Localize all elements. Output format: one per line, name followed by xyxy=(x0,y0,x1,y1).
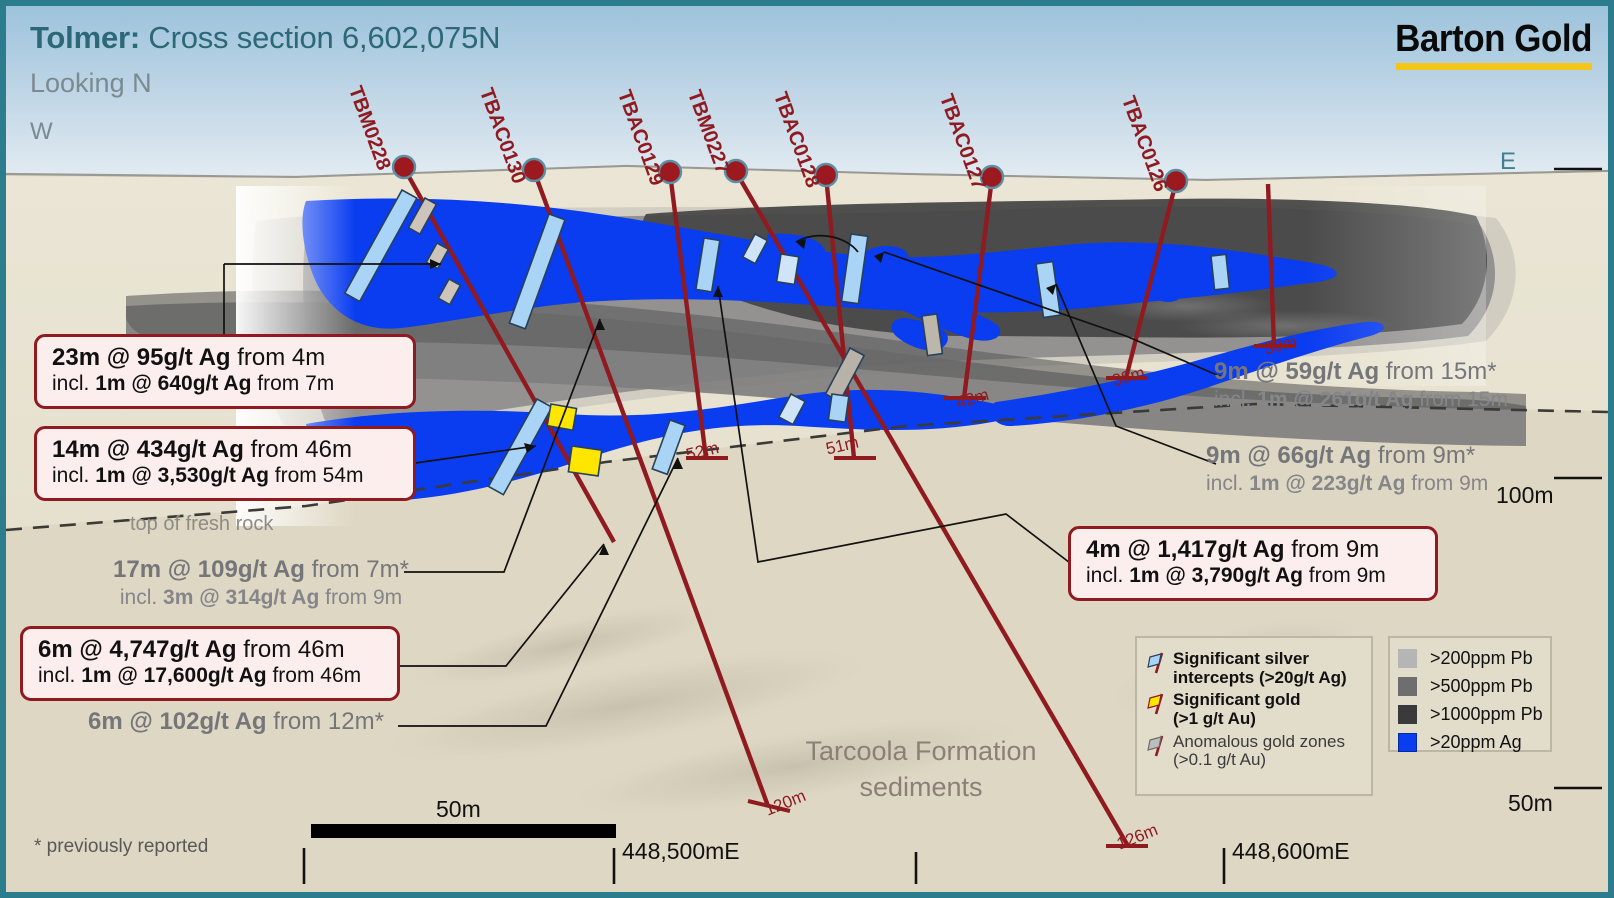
ag-pod-2 xyxy=(1154,286,1182,302)
legend-intercept-markers: Significant silver intercepts (>20g/t Ag… xyxy=(1135,636,1373,796)
callout-6m-102gt: 6m @ 102g/t Ag from 12m* xyxy=(66,708,406,737)
legend-label-silver: Significant silver intercepts (>20g/t Ag… xyxy=(1173,650,1347,687)
callout-rest: from 9m* xyxy=(1371,442,1475,469)
callout-line-1: 23m @ 95g/t Ag from 4m xyxy=(52,344,398,372)
callout-incl: incl. xyxy=(52,464,95,487)
brand-logo-underline xyxy=(1396,63,1592,70)
legend-geochem-swatches: >200ppm Pb >500ppm Pb >1000ppm Pb >20ppm… xyxy=(1388,636,1552,752)
legend-label-anomalous: Anomalous gold zones (>0.1 g/t Au) xyxy=(1173,733,1345,770)
callout-rest: from 7m* xyxy=(305,556,409,583)
legend-label-pb500: >500ppm Pb xyxy=(1430,676,1533,697)
legend-label-pb200: >200ppm Pb xyxy=(1430,648,1533,669)
footnote: * previously reported xyxy=(34,836,208,858)
legend-row-ag20: >20ppm Ag xyxy=(1398,732,1542,753)
screenshot-root: Tolmer: Cross section 6,602,075N Looking… xyxy=(0,0,1614,898)
formation-line-1: Tarcoola Formation xyxy=(796,734,1046,770)
callout-incl: incl. xyxy=(1086,564,1129,587)
callout-6m-4747gt: 6m @ 4,747g/t Ag from 46m incl. 1m @ 17,… xyxy=(20,626,400,701)
right-fade xyxy=(1306,186,1486,386)
callout-17m-109gt: 17m @ 109g/t Ag from 7m* incl. 3m @ 314g… xyxy=(76,556,446,610)
legend-label-silver-l1: Significant silver xyxy=(1173,649,1309,668)
legend-row-silver: Significant silver intercepts (>20g/t Ag… xyxy=(1147,650,1361,687)
swatch-pb1000 xyxy=(1398,705,1417,724)
compass-east-label: E xyxy=(1500,148,1516,176)
callout-rest: from 15m* xyxy=(1379,358,1496,385)
callout-bold: 17m @ 109g/t Ag xyxy=(113,556,305,583)
page-title: Tolmer: Cross section 6,602,075N xyxy=(30,20,500,56)
callout-line-1: 6m @ 102g/t Ag from 12m* xyxy=(66,708,406,737)
callout-bold: 9m @ 59g/t Ag xyxy=(1214,358,1379,385)
callout-bold-2: 1m @ 3,530g/t Ag xyxy=(95,464,269,487)
callout-bold: 6m @ 102g/t Ag xyxy=(88,708,267,735)
callout-4m-1417gt: 4m @ 1,417g/t Ag from 9m incl. 1m @ 3,79… xyxy=(1068,526,1438,601)
callout-bold: 9m @ 66g/t Ag xyxy=(1206,442,1371,469)
legend-label-gold-l2: (>1 g/t Au) xyxy=(1173,709,1256,728)
callout-rest: from 46m xyxy=(237,636,345,663)
callout-line-1: 6m @ 4,747g/t Ag from 46m xyxy=(38,636,382,664)
cross-section-figure: Tolmer: Cross section 6,602,075N Looking… xyxy=(6,6,1608,892)
page-title-rest: Cross section 6,602,075N xyxy=(148,20,500,55)
callout-bold: 6m @ 4,747g/t Ag xyxy=(38,636,237,663)
callout-bold-2: 1m @ 17,600g/t Ag xyxy=(81,664,266,687)
brand-logo: Barton Gold xyxy=(1378,18,1592,70)
top-of-fresh-rock-label: top of fresh rock xyxy=(130,513,273,536)
legend-label-pb1000: >1000ppm Pb xyxy=(1430,704,1543,725)
legend-row-pb200: >200ppm Pb xyxy=(1398,648,1542,669)
callout-rest-2: from 9m xyxy=(319,586,402,609)
legend-label-ag20: >20ppm Ag xyxy=(1430,732,1522,753)
legend-label-gold: Significant gold (>1 g/t Au) xyxy=(1173,691,1301,728)
callout-bold: 4m @ 1,417g/t Ag xyxy=(1086,536,1285,563)
callout-bold-2: 1m @ 261g/t Ag xyxy=(1257,388,1413,411)
callout-rest-2: from 54m xyxy=(269,464,364,487)
callout-rest-2: from 9m xyxy=(1405,472,1488,495)
callout-rest-2: from 46m xyxy=(267,664,362,687)
legend-label-anomalous-l1: Anomalous gold zones xyxy=(1173,732,1345,751)
scalebar-label: 50m xyxy=(436,796,481,823)
flag-icon-anomalous xyxy=(1147,735,1167,762)
callout-bold-2: 1m @ 223g/t Ag xyxy=(1249,472,1405,495)
swatch-pb200 xyxy=(1398,649,1417,668)
callout-rest: from 9m xyxy=(1285,536,1380,563)
swatch-pb500 xyxy=(1398,677,1417,696)
callout-incl: incl. xyxy=(1214,388,1257,411)
page-title-bold: Tolmer: xyxy=(30,20,140,55)
flag-ag xyxy=(828,394,848,422)
legend-row-anomalous: Anomalous gold zones (>0.1 g/t Au) xyxy=(1147,733,1361,770)
swatch-ag20 xyxy=(1398,733,1417,752)
flag-icon-gold xyxy=(1147,693,1167,720)
flag-ag xyxy=(1211,254,1229,289)
callout-line-2: incl. 3m @ 314g/t Ag from 9m xyxy=(76,585,446,610)
callout-rest-2: from 7m xyxy=(251,372,334,395)
callout-line-2: incl. 1m @ 223g/t Ag from 9m xyxy=(1206,471,1488,496)
callout-line-2: incl. 1m @ 3,530g/t Ag from 54m xyxy=(52,464,398,489)
ag-pod-1 xyxy=(864,246,908,266)
callout-incl: incl. xyxy=(52,372,95,395)
flag-au xyxy=(568,446,601,476)
callout-line-2: incl. 1m @ 17,600g/t Ag from 46m xyxy=(38,664,382,689)
scalebar xyxy=(311,824,616,838)
callout-bold-2: 3m @ 314g/t Ag xyxy=(163,586,319,609)
callout-rest-2: from 15m xyxy=(1413,388,1508,411)
callout-line-1: 14m @ 434g/t Ag from 46m xyxy=(52,436,398,464)
easting-label-448600: 448,600mE xyxy=(1232,838,1350,865)
callout-incl: incl. xyxy=(38,664,81,687)
callout-rest: from 4m xyxy=(231,344,326,371)
legend-label-silver-l2: intercepts (>20g/t Ag) xyxy=(1173,668,1347,687)
callout-incl: incl. xyxy=(120,586,163,609)
formation-line-2: sediments xyxy=(796,770,1046,806)
callout-bold-2: 1m @ 3,790g/t Ag xyxy=(1129,564,1303,587)
elevation-label-100m: 100m xyxy=(1496,482,1554,509)
callout-bold: 14m @ 434g/t Ag xyxy=(52,436,244,463)
callout-bold-2: 1m @ 640g/t Ag xyxy=(95,372,251,395)
callout-line-1: 4m @ 1,417g/t Ag from 9m xyxy=(1086,536,1420,564)
callout-line-2: incl. 1m @ 640g/t Ag from 7m xyxy=(52,372,398,397)
flag-ag xyxy=(777,254,799,284)
callout-line-2: incl. 1m @ 3,790g/t Ag from 9m xyxy=(1086,564,1420,589)
callout-incl: incl. xyxy=(1206,472,1249,495)
flag-icon-silver xyxy=(1147,652,1167,679)
callout-9m-66gt: 9m @ 66g/t Ag from 9m* incl. 1m @ 223g/t… xyxy=(1206,442,1488,496)
legend-label-anomalous-l2: (>0.1 g/t Au) xyxy=(1173,750,1266,769)
callout-14m-434gt: 14m @ 434g/t Ag from 46m incl. 1m @ 3,53… xyxy=(34,426,416,501)
legend-label-gold-l1: Significant gold xyxy=(1173,690,1301,709)
callout-line-1: 9m @ 66g/t Ag from 9m* xyxy=(1206,442,1488,471)
callout-bold: 23m @ 95g/t Ag xyxy=(52,344,231,371)
callout-line-2: incl. 1m @ 261g/t Ag from 15m xyxy=(1214,387,1508,412)
page-subtitle: Looking N xyxy=(30,68,152,99)
legend-row-pb500: >500ppm Pb xyxy=(1398,676,1542,697)
callout-rest: from 12m* xyxy=(267,708,384,735)
callout-rest: from 46m xyxy=(244,436,352,463)
elevation-label-50m: 50m xyxy=(1508,790,1553,817)
callout-23m-95gt: 23m @ 95g/t Ag from 4m incl. 1m @ 640g/t… xyxy=(34,334,416,409)
formation-label: Tarcoola Formation sediments xyxy=(796,734,1046,805)
callout-9m-59gt: 9m @ 59g/t Ag from 15m* incl. 1m @ 261g/… xyxy=(1214,358,1508,412)
compass-west-label: W xyxy=(30,118,53,146)
legend-row-pb1000: >1000ppm Pb xyxy=(1398,704,1542,725)
brand-logo-text: Barton Gold xyxy=(1395,18,1592,61)
callout-rest-2: from 9m xyxy=(1303,564,1386,587)
easting-label-448500: 448,500mE xyxy=(622,838,740,865)
callout-line-1: 9m @ 59g/t Ag from 15m* xyxy=(1214,358,1508,387)
legend-row-gold: Significant gold (>1 g/t Au) xyxy=(1147,691,1361,728)
callout-line-1: 17m @ 109g/t Ag from 7m* xyxy=(76,556,446,585)
